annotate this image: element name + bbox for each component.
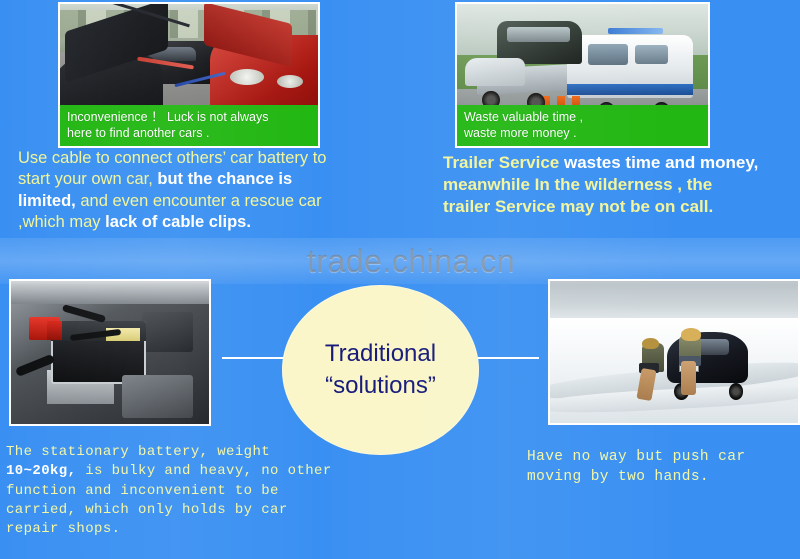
white-car [465, 58, 525, 86]
watermark-text: trade.china.cn [246, 243, 576, 280]
paragraph-pushcar: Have no way but push car moving by two h… [527, 447, 800, 487]
caption-line-1: Inconvenience ！ Luck is not always [67, 109, 312, 125]
truck-cab-window [588, 44, 628, 65]
headlight [230, 69, 264, 85]
overcast-sky [550, 281, 798, 321]
connector-line-left [222, 357, 284, 359]
watermark-band [0, 238, 800, 284]
van-window [507, 27, 570, 43]
caption-line-2: waste more money . [464, 125, 702, 141]
person-hair [681, 328, 701, 341]
truck-light-bar [608, 28, 663, 34]
person-leg [681, 361, 696, 395]
photo-pushcar [548, 279, 800, 425]
photo-jumpstart: Inconvenience ！ Luck is not always here … [58, 2, 320, 148]
headlight-secondary [277, 75, 303, 88]
text-run: meanwhile In the wilderness , the traile… [443, 175, 713, 216]
photo-towtruck: Waste valuable time , waste more money . [455, 2, 710, 148]
center-bubble: Traditional “solutions” [282, 285, 479, 455]
bay-upper-edge [11, 281, 209, 304]
paragraph-battery: The stationary battery, weight 10~20kg, … [6, 443, 336, 540]
truck-blue-stripe [567, 84, 693, 95]
text-run-bold: wastes time and money, [564, 153, 758, 172]
caption-line-2: here to find another cars . [67, 125, 312, 141]
engine-component [122, 375, 193, 418]
fuse-box [142, 312, 193, 352]
truck-cab-window [635, 45, 668, 63]
photo-battery [9, 279, 211, 426]
poster-canvas: Inconvenience ！ Luck is not always here … [0, 0, 800, 559]
text-run: Have no way but push car moving by two h… [527, 449, 745, 485]
text-run-bold: 10~20kg, [6, 463, 76, 479]
paragraph-jumpstart: Use cable to connect others’ car battery… [18, 148, 348, 233]
connector-line-right [477, 357, 539, 359]
red-terminal-cover [47, 321, 63, 340]
pushcar-scene [550, 281, 798, 423]
text-run-bold: lack of cable clips. [105, 213, 251, 231]
caption-line-1: Waste valuable time , [464, 109, 702, 125]
bubble-line-1: Traditional [325, 338, 436, 370]
paragraph-towtruck: Trailer Service wastes time and money, m… [443, 152, 763, 218]
text-run: Trailer Service [443, 153, 564, 172]
bubble-line-2: “solutions” [325, 370, 436, 402]
caption-towtruck: Waste valuable time , waste more money . [457, 105, 708, 146]
caption-jumpstart: Inconvenience ！ Luck is not always here … [60, 105, 318, 146]
battery-scene [11, 281, 209, 424]
text-run: The stationary battery, weight [6, 444, 270, 460]
person-hair [642, 338, 659, 349]
